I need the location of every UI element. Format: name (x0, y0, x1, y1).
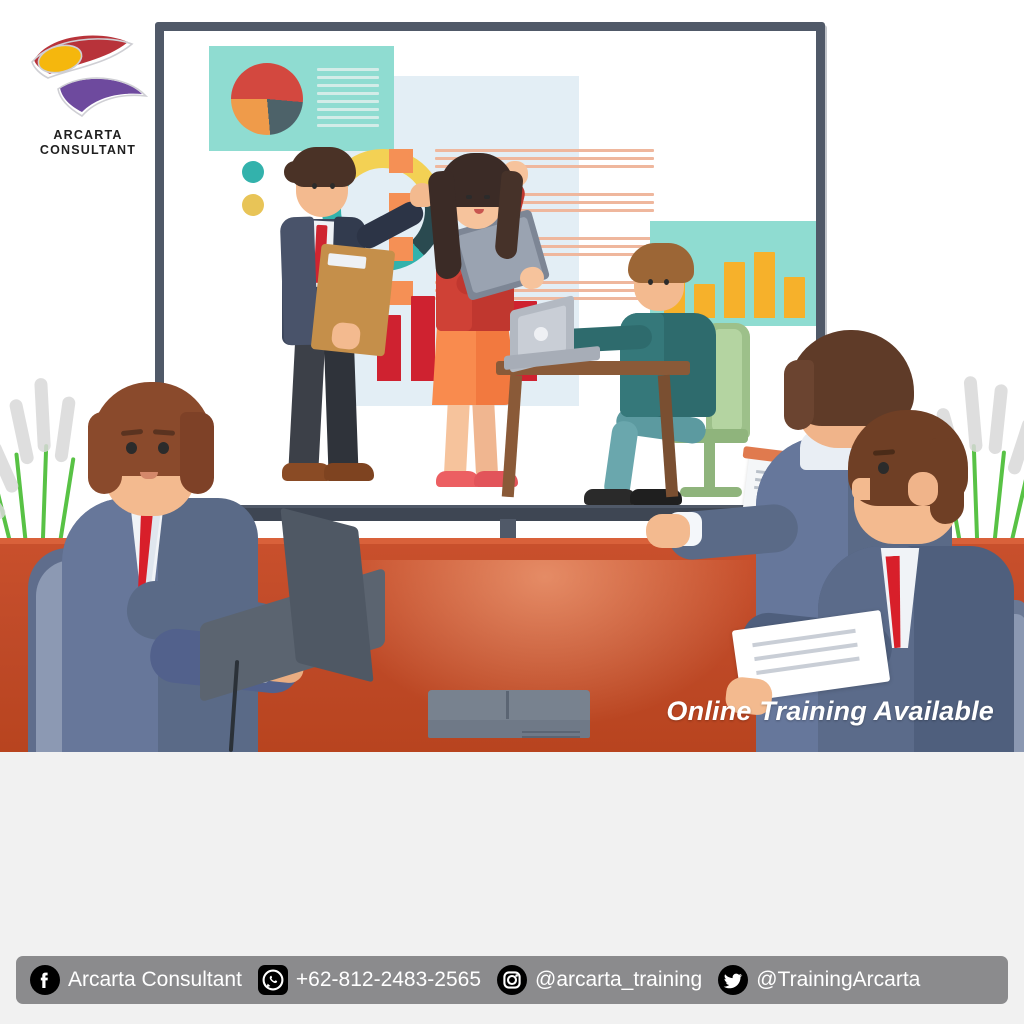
contact-twitter[interactable]: @TrainingArcarta (718, 965, 930, 995)
logo-mark (26, 26, 150, 126)
brand-logo: ARCARTA CONSULTANT (18, 26, 158, 158)
contact-whatsapp[interactable]: +62-812-2483-2565 (258, 965, 491, 995)
projection-screen (155, 22, 825, 514)
instagram-icon (497, 965, 527, 995)
poster-root: Online Training Available ARCARTA CONSUL… (0, 0, 1024, 1024)
legend-dot-teal (242, 161, 264, 183)
pie-chart-card (209, 46, 394, 151)
facebook-icon (30, 965, 60, 995)
logo-line-2: CONSULTANT (18, 143, 158, 158)
contact-instagram-label: @arcarta_training (535, 968, 702, 992)
legend-dot-yellow (242, 194, 264, 216)
pie-card-text-lines (317, 68, 379, 132)
screen-surface (164, 31, 816, 505)
contact-twitter-label: @TrainingArcarta (756, 968, 920, 992)
contact-bar: Arcarta Consultant +62-812-2483-2565 @ar… (16, 956, 1008, 1004)
logo-line-1: ARCARTA (18, 128, 158, 143)
contact-instagram[interactable]: @arcarta_training (497, 965, 712, 995)
logo-wordmark: ARCARTA CONSULTANT (18, 128, 158, 158)
contact-whatsapp-label: +62-812-2483-2565 (296, 968, 481, 992)
illustration-stage: Online Training Available ARCARTA CONSUL… (0, 0, 1024, 752)
projector-device (428, 690, 590, 738)
twitter-icon (718, 965, 748, 995)
contact-facebook[interactable]: Arcarta Consultant (30, 965, 252, 995)
online-training-badge: Online Training Available (666, 696, 994, 727)
projector-vent (522, 731, 580, 733)
contact-facebook-label: Arcarta Consultant (68, 968, 242, 992)
title-band: TRAINING DASAR-DASAR SUPERVISI (0, 752, 1024, 948)
projector-seam (506, 691, 509, 719)
projector-top-face (428, 690, 590, 720)
checklist-marker (389, 149, 413, 173)
whatsapp-icon (258, 965, 288, 995)
logo-swoosh-icon (26, 26, 150, 126)
pie-chart (231, 63, 303, 135)
